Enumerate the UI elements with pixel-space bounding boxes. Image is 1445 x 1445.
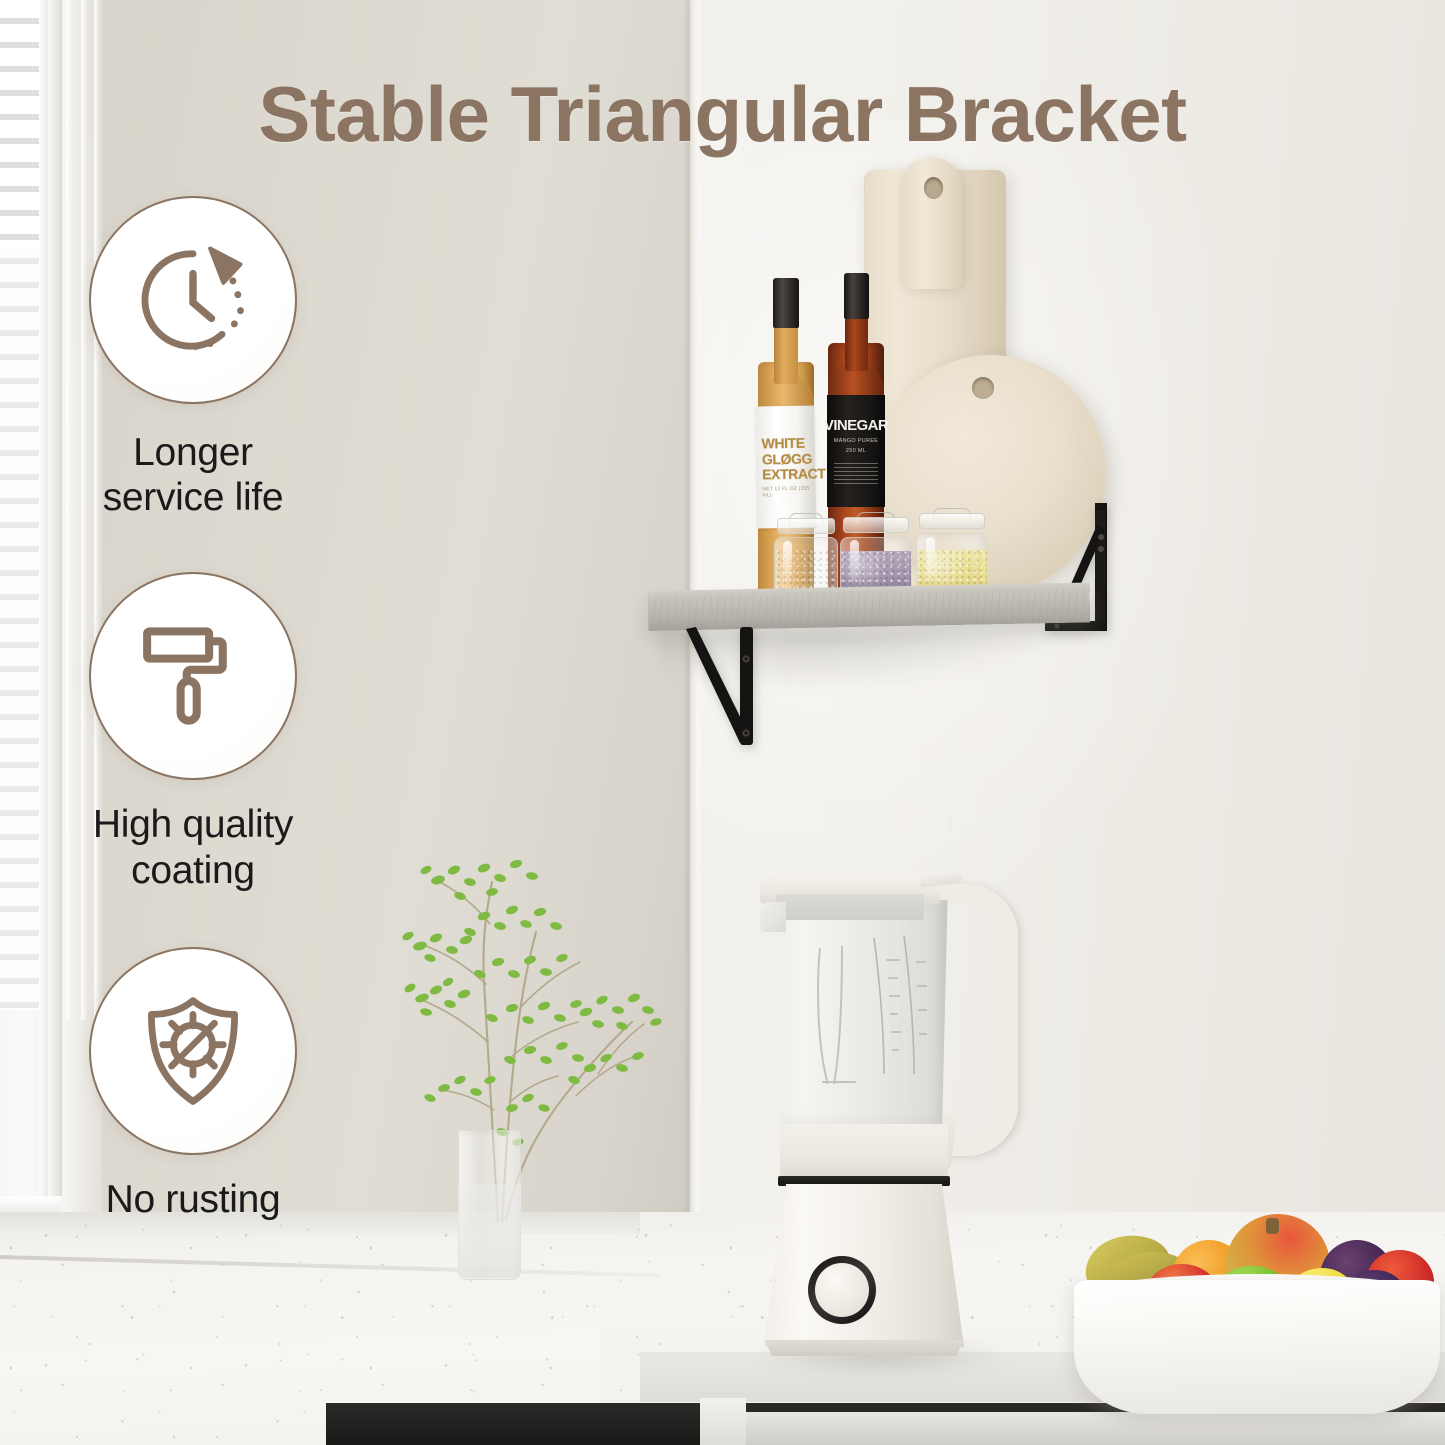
jar-lid [843, 517, 909, 533]
feature-item-longer-service-life: Longer service life [48, 196, 338, 520]
feature-badge [89, 572, 297, 780]
bottle-cap [773, 278, 799, 328]
blender-blade-assembly [812, 940, 864, 1090]
shelf-bracket-left [684, 625, 776, 750]
branch-in-glass-vase [360, 812, 690, 1280]
round-board-hanging-hole [972, 377, 994, 399]
jar-highlight [783, 541, 792, 581]
feature-label-line-1: Longer [48, 430, 338, 475]
jar-lid [777, 518, 836, 534]
bottle-neck [845, 313, 868, 371]
bottle-label-line-1: VINEGAR [824, 417, 888, 434]
paint-roller-icon [131, 614, 255, 738]
feature-item-no-rusting: No rusting [48, 947, 338, 1222]
countertop-blender [742, 862, 1034, 1362]
blender-jar-collar [780, 1124, 948, 1180]
product-feature-image: Stable Triangular Bracket Longer [0, 0, 1445, 1445]
cabinet-post [700, 1398, 746, 1445]
bottle-label: WHITE GLØGG EXTRACT NET 12 FL OZ (355 mL… [756, 406, 816, 529]
feature-item-high-quality-coating: High quality coating [48, 572, 338, 892]
fruit-mango-stem [1266, 1218, 1279, 1234]
window-mullion [39, 0, 48, 1200]
feature-label-line-1: No rusting [48, 1177, 338, 1222]
jar-highlight [850, 540, 859, 581]
feature-label-line-1: High quality [48, 802, 338, 847]
jar-lid [919, 513, 985, 529]
bottle-label-fine-print: NET 12 FL OZ (355 mL) [762, 485, 815, 498]
jar-highlight [926, 537, 935, 580]
feature-list: Longer service life High quality coating [48, 196, 338, 1280]
blender-control-knob[interactable] [815, 1263, 869, 1317]
bottle-label-line-3: 250 ML [846, 448, 866, 454]
feature-label-line-2: service life [48, 475, 338, 520]
bottle-neck [774, 322, 798, 384]
bottle-cap [844, 273, 869, 319]
wall-shelf-assembly: WHITE GLØGG EXTRACT NET 12 FL OZ (355 mL… [648, 165, 1118, 755]
bottle-label-line-3: EXTRACT [762, 467, 826, 484]
feature-label: Longer service life [48, 430, 338, 520]
blender-measurement-markings [870, 934, 932, 1079]
bottle-label-line-1: WHITE [761, 436, 804, 452]
feature-label: High quality coating [48, 802, 338, 892]
page-title: Stable Triangular Bracket [0, 74, 1445, 156]
vase-water [458, 1184, 521, 1278]
bottle-label-fine-print [834, 463, 878, 485]
feature-badge [89, 196, 297, 404]
bottle-label: VINEGAR MANGO PUREE 250 ML [827, 395, 885, 507]
feature-label: No rusting [48, 1177, 338, 1222]
feature-label-line-2: coating [48, 848, 338, 893]
bowl-body [1074, 1280, 1440, 1414]
cutting-board-hanging-hole [924, 177, 943, 199]
blender-pour-spout [760, 902, 786, 932]
blender-foot [764, 1340, 964, 1356]
clock-rotate-icon [127, 234, 259, 366]
blender-lid-inner-ring [776, 894, 924, 920]
bottle-label-line-2: MANGO PUREE [834, 438, 879, 444]
feature-badge [89, 947, 297, 1155]
shield-no-rust-icon [130, 988, 256, 1114]
ceramic-fruit-bowl [1068, 1208, 1445, 1438]
